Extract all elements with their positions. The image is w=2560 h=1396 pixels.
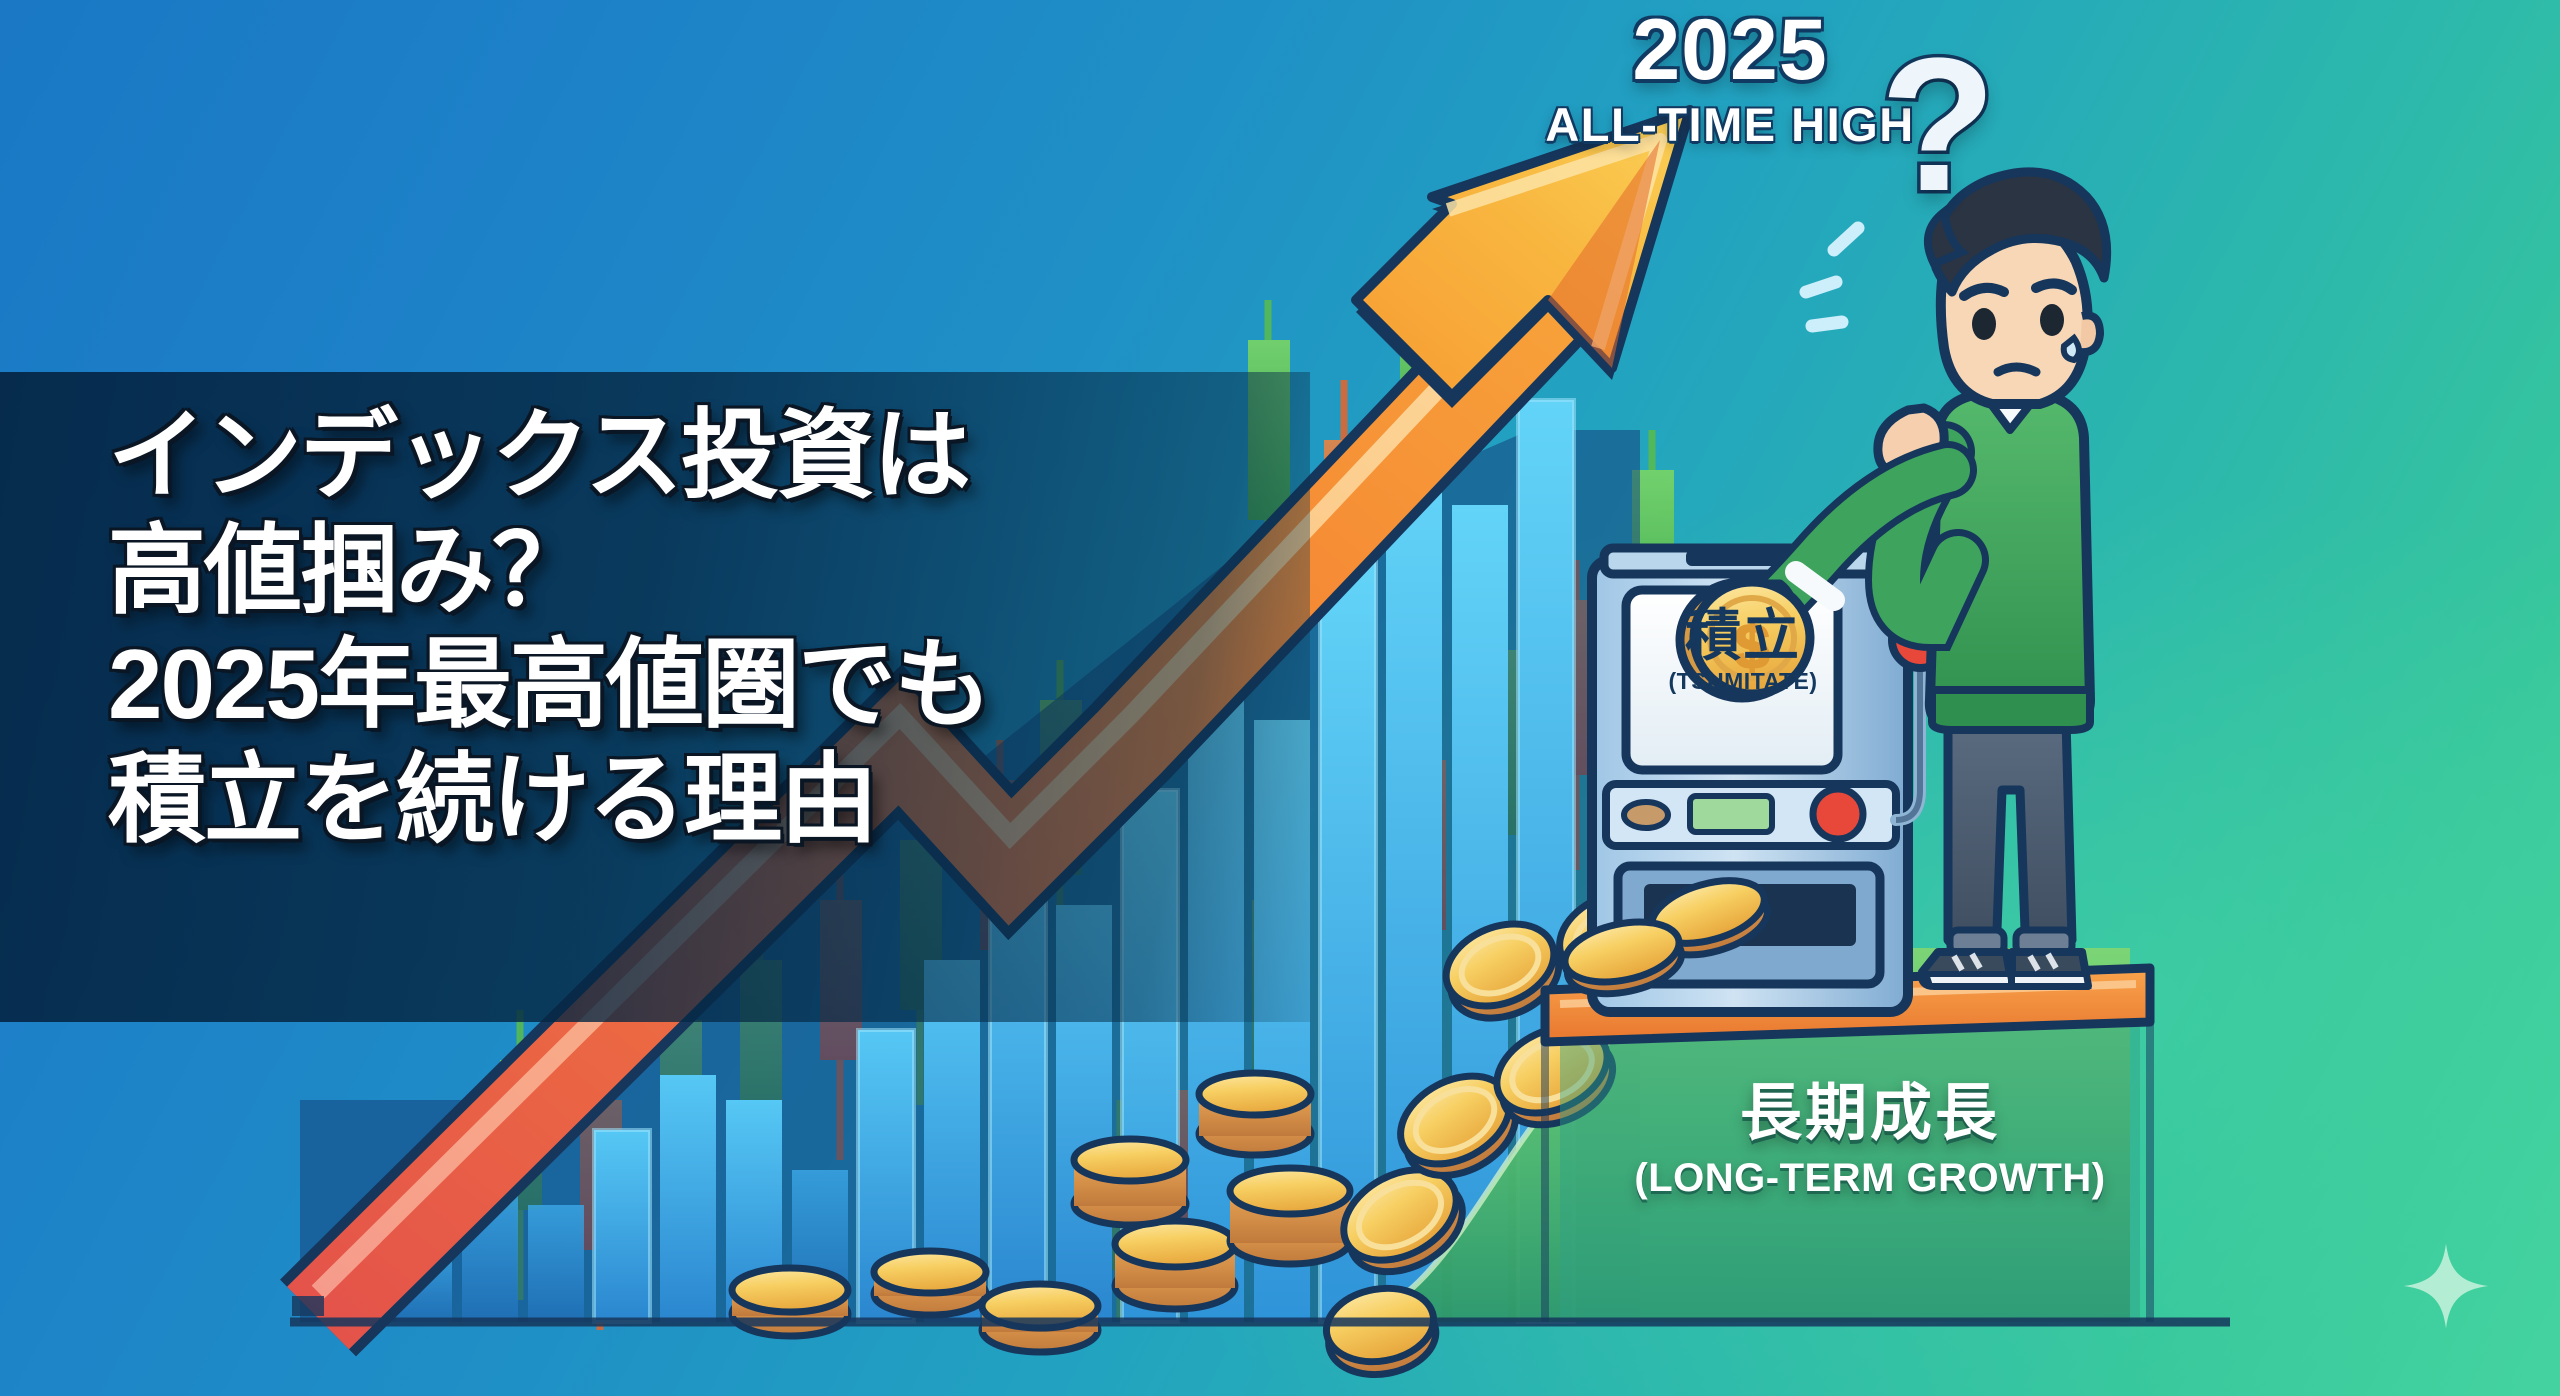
- headline-line-1: インデックス投資は: [108, 398, 1338, 513]
- tsumitate-machine-label: 積立 (TSUMITATE): [1653, 608, 1833, 693]
- growth-label-jp: 長期成長: [1590, 1080, 2150, 1148]
- question-mark-icon: ?: [1880, 30, 1996, 220]
- headline-line-3: 2025年最高値圏でも: [108, 627, 1338, 742]
- page-title: インデックス投資は 高値掴み？ 2025年最高値圏でも 積立を続ける理由: [108, 398, 1338, 857]
- headline-line-2: 高値掴み？: [108, 513, 1338, 628]
- sparkle-icon: [2400, 1240, 2492, 1332]
- long-term-growth-label: 長期成長 (LONG-TERM GROWTH): [1590, 1080, 2150, 1201]
- thumbnail-canvas: $: [0, 0, 2560, 1396]
- surprise-ticks: [1806, 228, 1858, 326]
- growth-label-en: (LONG-TERM GROWTH): [1590, 1156, 2150, 1201]
- tsumitate-label-en: (TSUMITATE): [1653, 670, 1833, 693]
- headline-line-4: 積立を続ける理由: [108, 742, 1338, 857]
- tsumitate-label-jp: 積立: [1653, 608, 1833, 664]
